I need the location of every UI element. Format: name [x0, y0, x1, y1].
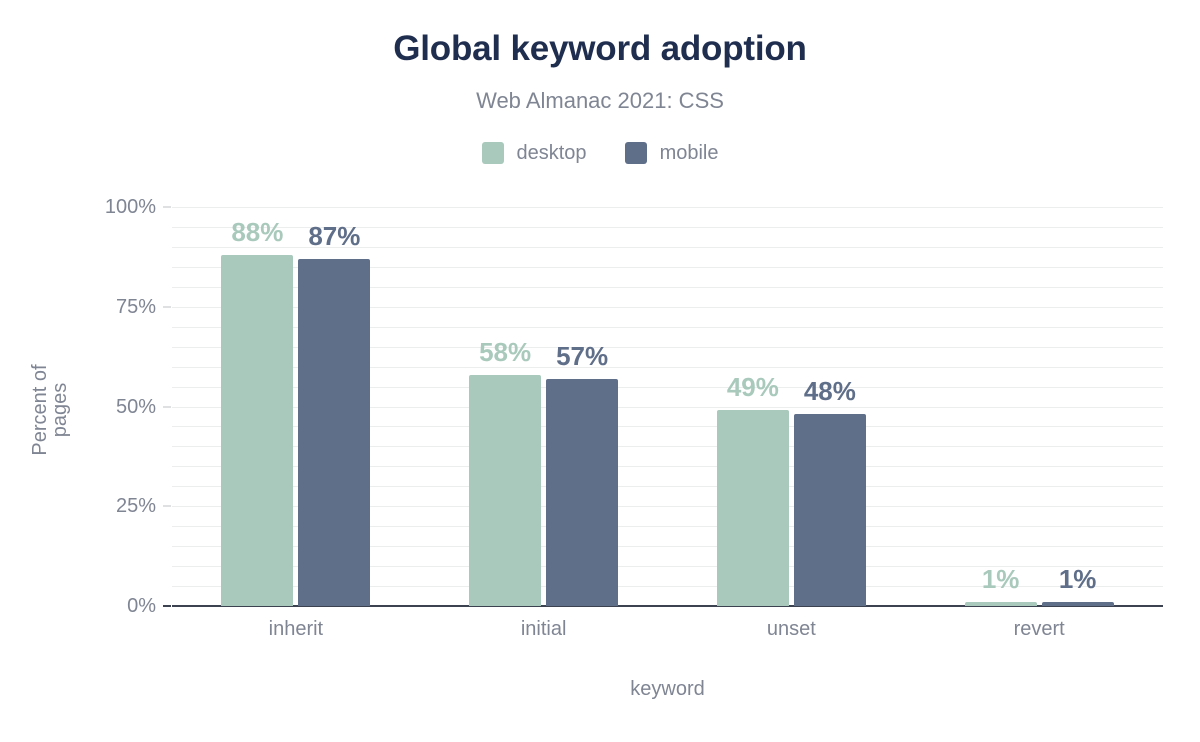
bar-initial-mobile[interactable] [546, 379, 618, 606]
bar-value-label-initial-mobile: 57% [546, 343, 618, 369]
x-axis-title: keyword [172, 679, 1163, 699]
bar-revert-mobile[interactable] [1042, 602, 1114, 606]
bar-value-label-initial-desktop: 58% [469, 339, 541, 365]
bar-unset-mobile[interactable] [794, 414, 866, 606]
x-tick-label-revert: revert [915, 619, 1163, 639]
x-tick-label-inherit: inherit [172, 619, 420, 639]
bar-unset-desktop[interactable] [717, 410, 789, 606]
chart-figure: Global keyword adoption Web Almanac 2021… [0, 0, 1200, 742]
bar-inherit-desktop[interactable] [221, 255, 293, 606]
x-tick-label-unset: unset [668, 619, 916, 639]
x-tick-label-initial: initial [420, 619, 668, 639]
y-axis-title: Percent of pages [30, 340, 70, 480]
bar-initial-desktop[interactable] [469, 375, 541, 606]
bar-revert-desktop[interactable] [965, 602, 1037, 606]
bar-value-label-revert-mobile: 1% [1042, 566, 1114, 592]
bar-value-label-unset-desktop: 49% [717, 374, 789, 400]
bar-value-label-inherit-mobile: 87% [298, 223, 370, 249]
bar-value-label-revert-desktop: 1% [965, 566, 1037, 592]
bar-value-label-inherit-desktop: 88% [221, 219, 293, 245]
bar-value-label-unset-mobile: 48% [794, 378, 866, 404]
bar-inherit-mobile[interactable] [298, 259, 370, 606]
